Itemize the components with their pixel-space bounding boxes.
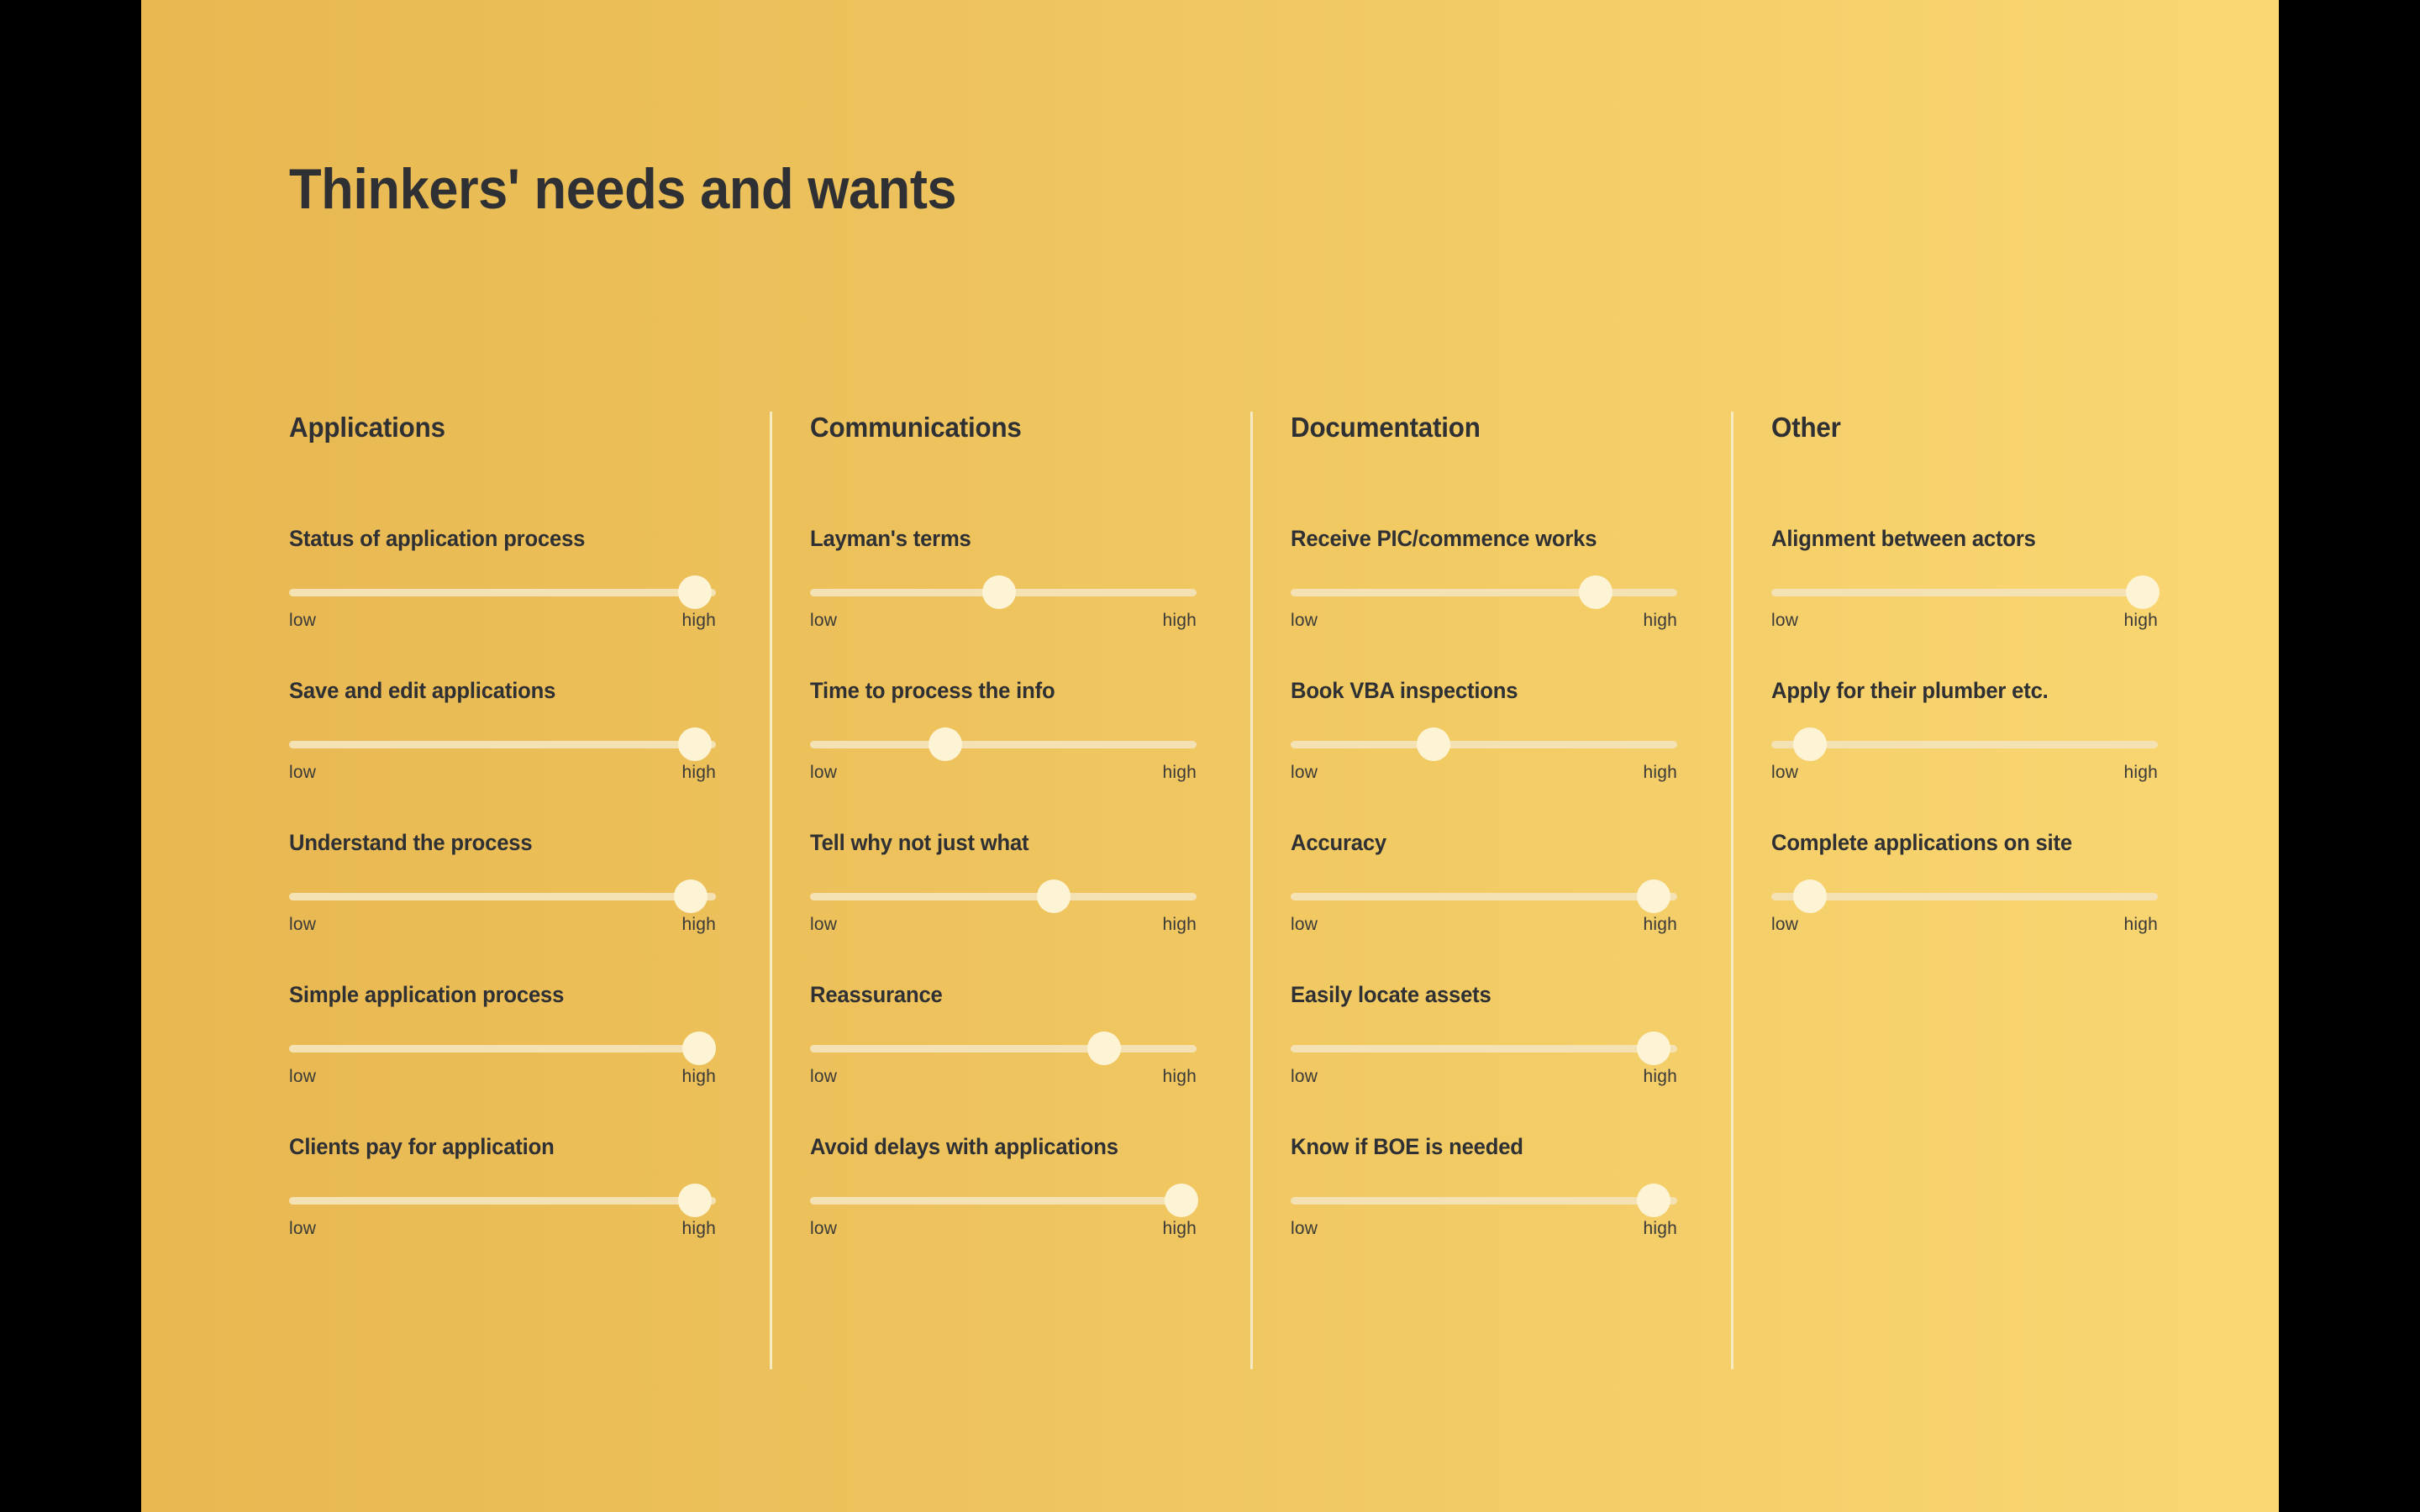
priority-slider[interactable] — [1771, 879, 2158, 913]
priority-slider[interactable] — [1291, 1032, 1677, 1065]
need-label: Save and edit applications — [289, 678, 695, 704]
scale-high-label: high — [681, 915, 716, 935]
need-item: Simple application processlowhigh — [289, 982, 716, 1087]
need-label: Simple application process — [289, 982, 695, 1008]
scale-low-label: low — [810, 915, 837, 935]
need-label: Tell why not just what — [810, 830, 1177, 856]
slider-scale: lowhigh — [1771, 611, 2158, 631]
slider-knob[interactable] — [1579, 575, 1612, 609]
priority-slider[interactable] — [1291, 727, 1677, 761]
need-item: Complete applications on sitelowhigh — [1771, 830, 2158, 935]
slider-knob[interactable] — [1037, 879, 1071, 913]
slider-knob[interactable] — [678, 575, 712, 609]
need-item: Easily locate assetslowhigh — [1291, 982, 1677, 1087]
priority-slider[interactable] — [289, 575, 716, 609]
slider-knob[interactable] — [678, 727, 712, 761]
priority-slider[interactable] — [810, 879, 1197, 913]
slider-scale: lowhigh — [1291, 1219, 1677, 1239]
slider-knob[interactable] — [1637, 879, 1670, 913]
category-column: DocumentationReceive PIC/commence worksl… — [1250, 412, 1731, 1369]
scale-low-label: low — [1291, 1067, 1318, 1087]
scale-high-label: high — [681, 1219, 716, 1239]
scale-low-label: low — [1771, 915, 1798, 935]
need-label: Easily locate assets — [1291, 982, 1658, 1008]
scale-low-label: low — [289, 763, 316, 783]
priority-slider[interactable] — [289, 879, 716, 913]
scale-low-label: low — [1771, 611, 1798, 631]
need-label: Understand the process — [289, 830, 695, 856]
priority-slider[interactable] — [810, 727, 1197, 761]
slider-track[interactable] — [1291, 1045, 1677, 1053]
need-item: Book VBA inspectionslowhigh — [1291, 678, 1677, 783]
priority-slider[interactable] — [289, 1184, 716, 1217]
need-item: Status of application processlowhigh — [289, 526, 716, 631]
need-item: Layman's termslowhigh — [810, 526, 1197, 631]
category-columns: ApplicationsStatus of application proces… — [289, 412, 2222, 1369]
slider-track[interactable] — [1771, 741, 2158, 748]
column-header: Communications — [810, 412, 1177, 444]
scale-low-label: low — [1291, 1219, 1318, 1239]
need-item: Reassurancelowhigh — [810, 982, 1197, 1087]
need-item: Time to process the infolowhigh — [810, 678, 1197, 783]
column-header: Applications — [289, 412, 695, 444]
slider-track[interactable] — [810, 1197, 1197, 1205]
priority-slider[interactable] — [1291, 575, 1677, 609]
priority-slider[interactable] — [1291, 1184, 1677, 1217]
slider-scale: lowhigh — [289, 1067, 716, 1087]
slider-track[interactable] — [289, 589, 716, 596]
scale-high-label: high — [1643, 1219, 1677, 1239]
scale-high-label: high — [1162, 763, 1197, 783]
need-item: Tell why not just whatlowhigh — [810, 830, 1197, 935]
slider-knob[interactable] — [682, 1032, 716, 1065]
scale-low-label: low — [289, 1067, 316, 1087]
need-label: Layman's terms — [810, 526, 1177, 552]
scale-high-label: high — [681, 1067, 716, 1087]
scale-low-label: low — [1291, 915, 1318, 935]
scale-high-label: high — [1162, 1219, 1197, 1239]
slider-scale: lowhigh — [1291, 763, 1677, 783]
priority-slider[interactable] — [810, 575, 1197, 609]
scale-high-label: high — [1162, 611, 1197, 631]
need-label: Reassurance — [810, 982, 1177, 1008]
slider-track[interactable] — [289, 1197, 716, 1205]
need-label: Status of application process — [289, 526, 695, 552]
scale-high-label: high — [1162, 1067, 1197, 1087]
scale-high-label: high — [681, 611, 716, 631]
slider-track[interactable] — [810, 741, 1197, 748]
slider-scale: lowhigh — [810, 1067, 1197, 1087]
scale-high-label: high — [1643, 915, 1677, 935]
slider-track[interactable] — [810, 1045, 1197, 1053]
slider-track[interactable] — [289, 741, 716, 748]
page-title: Thinkers' needs and wants — [289, 156, 956, 222]
need-item: Accuracylowhigh — [1291, 830, 1677, 935]
slider-track[interactable] — [1771, 893, 2158, 900]
scale-low-label: low — [289, 611, 316, 631]
slider-track[interactable] — [1291, 589, 1677, 596]
slider-track[interactable] — [1291, 1197, 1677, 1205]
need-label: Book VBA inspections — [1291, 678, 1658, 704]
scale-high-label: high — [1643, 763, 1677, 783]
scale-low-label: low — [1771, 763, 1798, 783]
need-item: Avoid delays with applicationslowhigh — [810, 1134, 1197, 1239]
slider-knob[interactable] — [929, 727, 962, 761]
need-label: Alignment between actors — [1771, 526, 2139, 552]
scale-low-label: low — [289, 1219, 316, 1239]
need-label: Receive PIC/commence works — [1291, 526, 1658, 552]
scale-low-label: low — [1291, 763, 1318, 783]
scale-low-label: low — [810, 1219, 837, 1239]
slider-scale: lowhigh — [810, 763, 1197, 783]
slider-track[interactable] — [1291, 741, 1677, 748]
slide-canvas: Thinkers' needs and wants ApplicationsSt… — [0, 0, 2420, 1512]
priority-slider[interactable] — [1771, 575, 2158, 609]
scale-low-label: low — [810, 611, 837, 631]
slider-track[interactable] — [1771, 589, 2158, 596]
slider-knob[interactable] — [674, 879, 708, 913]
slider-track[interactable] — [289, 1045, 716, 1053]
scale-high-label: high — [2123, 611, 2158, 631]
column-header: Other — [1771, 412, 2139, 444]
slider-scale: lowhigh — [289, 763, 716, 783]
slider-scale: lowhigh — [1291, 611, 1677, 631]
scale-low-label: low — [810, 763, 837, 783]
slider-track[interactable] — [810, 893, 1197, 900]
scale-low-label: low — [810, 1067, 837, 1087]
category-column: ApplicationsStatus of application proces… — [289, 412, 770, 1369]
need-label: Apply for their plumber etc. — [1771, 678, 2139, 704]
need-item: Apply for their plumber etc.lowhigh — [1771, 678, 2158, 783]
scale-high-label: high — [1162, 915, 1197, 935]
slider-scale: lowhigh — [810, 1219, 1197, 1239]
priority-slider[interactable] — [810, 1032, 1197, 1065]
slider-scale: lowhigh — [810, 611, 1197, 631]
slider-scale: lowhigh — [810, 915, 1197, 935]
category-column: CommunicationsLayman's termslowhighTime … — [770, 412, 1250, 1369]
need-item: Know if BOE is neededlowhigh — [1291, 1134, 1677, 1239]
need-label: Avoid delays with applications — [810, 1134, 1177, 1160]
priority-slider[interactable] — [1771, 727, 2158, 761]
slider-track[interactable] — [289, 893, 716, 900]
slider-scale: lowhigh — [1771, 915, 2158, 935]
need-item: Alignment between actorslowhigh — [1771, 526, 2158, 631]
slider-knob[interactable] — [2126, 575, 2160, 609]
priority-slider[interactable] — [1291, 879, 1677, 913]
slider-knob[interactable] — [1087, 1032, 1121, 1065]
scale-high-label: high — [2123, 763, 2158, 783]
need-item: Understand the processlowhigh — [289, 830, 716, 935]
priority-slider[interactable] — [810, 1184, 1197, 1217]
scale-low-label: low — [1291, 611, 1318, 631]
slider-knob[interactable] — [1793, 727, 1827, 761]
slider-knob[interactable] — [1637, 1184, 1670, 1217]
slider-scale: lowhigh — [1771, 763, 2158, 783]
slider-scale: lowhigh — [289, 915, 716, 935]
need-label: Accuracy — [1291, 830, 1658, 856]
scale-high-label: high — [1643, 611, 1677, 631]
need-item: Save and edit applicationslowhigh — [289, 678, 716, 783]
priority-slider[interactable] — [289, 1032, 716, 1065]
column-header: Documentation — [1291, 412, 1658, 444]
slider-knob[interactable] — [982, 575, 1016, 609]
scale-high-label: high — [2123, 915, 2158, 935]
slider-knob[interactable] — [1165, 1184, 1198, 1217]
scale-low-label: low — [289, 915, 316, 935]
slider-track[interactable] — [1291, 893, 1677, 900]
slider-knob[interactable] — [1637, 1032, 1670, 1065]
slider-scale: lowhigh — [289, 1219, 716, 1239]
need-item: Clients pay for applicationlowhigh — [289, 1134, 716, 1239]
slider-scale: lowhigh — [1291, 1067, 1677, 1087]
scale-high-label: high — [681, 763, 716, 783]
need-item: Receive PIC/commence workslowhigh — [1291, 526, 1677, 631]
need-label: Know if BOE is needed — [1291, 1134, 1658, 1160]
slide-panel: Thinkers' needs and wants ApplicationsSt… — [141, 0, 2279, 1512]
slider-knob[interactable] — [678, 1184, 712, 1217]
slider-knob[interactable] — [1417, 727, 1450, 761]
slider-scale: lowhigh — [289, 611, 716, 631]
slider-knob[interactable] — [1793, 879, 1827, 913]
need-label: Complete applications on site — [1771, 830, 2139, 856]
need-label: Time to process the info — [810, 678, 1177, 704]
need-label: Clients pay for application — [289, 1134, 695, 1160]
scale-high-label: high — [1643, 1067, 1677, 1087]
category-column: OtherAlignment between actorslowhighAppl… — [1731, 412, 2212, 1369]
priority-slider[interactable] — [289, 727, 716, 761]
slider-scale: lowhigh — [1291, 915, 1677, 935]
